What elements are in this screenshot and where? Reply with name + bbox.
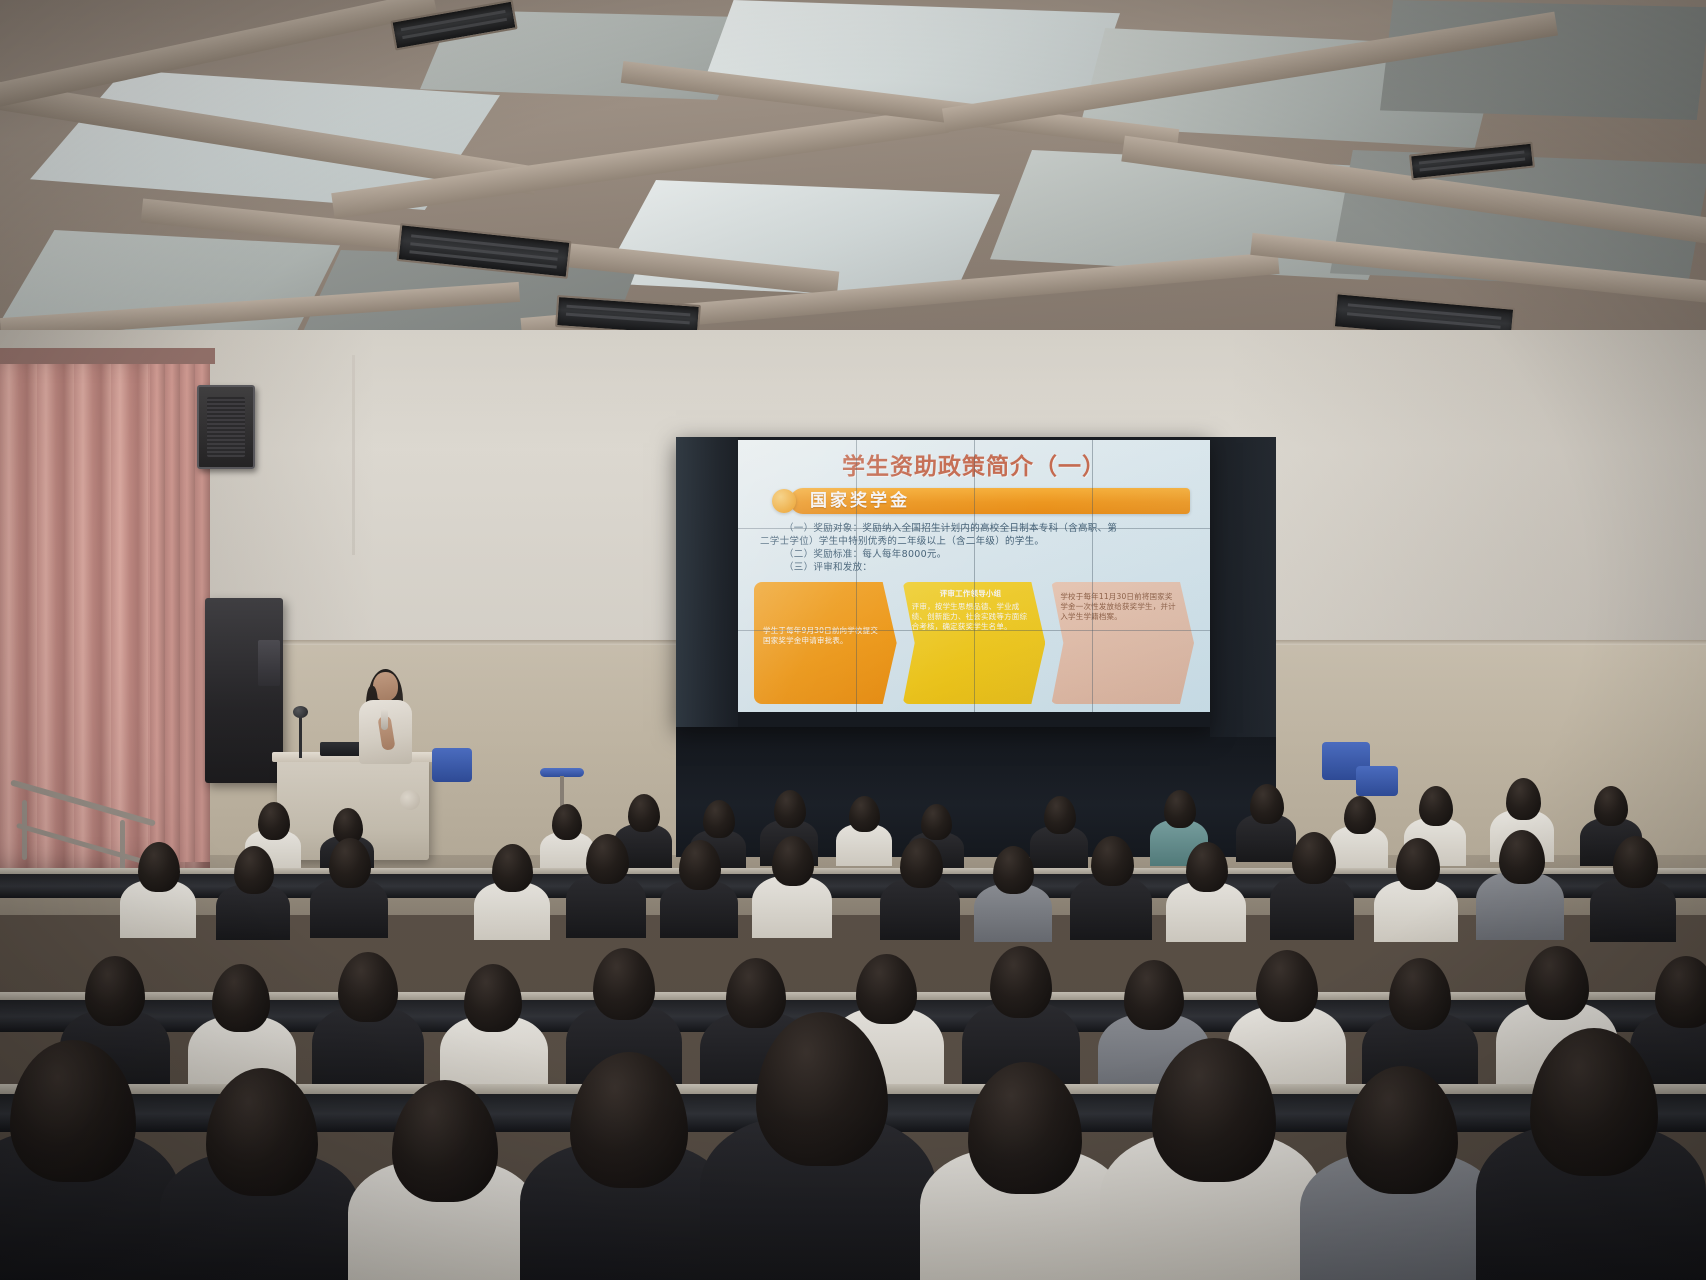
flow-step-2-title: 评审工作领导小组	[912, 589, 1030, 599]
audience-member-head	[138, 842, 180, 892]
audience-member-head	[1594, 786, 1628, 826]
video-wall-seam	[856, 440, 857, 712]
flow-step-2-body: 评审，按学生思想品德、学业成绩、创新能力、社会实践等方面综合考核，确定获奖学生名…	[912, 602, 1030, 632]
audience-member-head	[993, 846, 1034, 894]
audience-member-head	[1389, 958, 1451, 1030]
audience-member-head	[85, 956, 145, 1026]
presenter	[354, 672, 416, 764]
audience-member-head	[1256, 950, 1318, 1022]
gooseneck-microphone-stand	[299, 712, 302, 758]
ceiling	[0, 0, 1706, 350]
presentation-slide: 学生资助政策简介（一） 国家奖学金 （一）奖励对象：奖励纳入全国招生计划内的高校…	[738, 440, 1210, 712]
audience-member-head	[338, 952, 398, 1022]
audience-member-head	[1655, 956, 1706, 1028]
video-wall-seam	[738, 528, 1210, 529]
handheld-microphone	[381, 708, 388, 730]
audience-member-head	[258, 802, 290, 840]
curtain-rail	[0, 348, 215, 364]
audience-member-head	[1506, 778, 1541, 820]
video-wall-seam	[974, 440, 975, 712]
audience-member-head	[1525, 946, 1589, 1020]
flow-step-3: 学校于每年11月30日前将国家奖学金一次性发放给获奖学生，并计入学生学籍档案。	[1051, 582, 1194, 704]
audience-member-head	[849, 796, 880, 832]
flow-step-1: 学生于每年9月30日前向学校提交国家奖学金申请审批表。	[754, 582, 897, 704]
audience-member-head	[1613, 836, 1658, 888]
audience-member-head	[921, 804, 952, 840]
audience-member-head	[1419, 786, 1453, 826]
screen-side-panel	[1210, 437, 1276, 737]
audience-member-head	[1186, 842, 1228, 892]
bullet-dot-icon	[772, 489, 796, 513]
slide-body-line: （二）奖励标准：每人每年8000元。	[760, 548, 1200, 561]
audience-member-head	[726, 958, 786, 1028]
audience	[0, 760, 1706, 1280]
audience-member-head	[1164, 790, 1196, 828]
audience-member-head	[1344, 796, 1376, 834]
video-wall-seam	[1092, 440, 1093, 712]
audience-member-head	[628, 794, 660, 832]
wall-speaker	[197, 385, 255, 469]
audience-member-head	[552, 804, 582, 840]
audience-member-head	[703, 800, 735, 838]
audience-member-head	[464, 964, 522, 1032]
audience-member-head	[990, 946, 1052, 1018]
video-wall-bezel	[676, 437, 738, 727]
audience-member-head	[593, 948, 655, 1020]
audience-member-head	[856, 954, 917, 1024]
lecture-hall-photo: 学生资助政策简介（一） 国家奖学金 （一）奖励对象：奖励纳入全国招生计划内的高校…	[0, 0, 1706, 1280]
audience-member-head	[1044, 796, 1076, 834]
audience-member-head	[492, 844, 533, 892]
gooseneck-microphone-head	[293, 706, 308, 718]
slide-body-line: 二学士学位）学生中特别优秀的二年级以上（含二年级）的学生。	[760, 535, 1200, 548]
video-wall-seam	[738, 630, 1210, 631]
audience-member-head	[1091, 836, 1134, 886]
audience-member-head	[1124, 960, 1184, 1030]
slide-body-line: （三）评审和发放：	[760, 561, 1200, 574]
slide-section-label: 国家奖学金	[810, 490, 910, 512]
audience-member-head	[1250, 784, 1284, 824]
slide-body-text: （一）奖励对象：奖励纳入全国招生计划内的高校全日制本专科（含高职、第 二学士学位…	[760, 522, 1200, 574]
flow-step-1-body: 学生于每年9月30日前向学校提交国家奖学金申请审批表。	[763, 592, 881, 646]
flow-step-3-body: 学校于每年11月30日前将国家奖学金一次性发放给获奖学生，并计入学生学籍档案。	[1060, 592, 1178, 622]
hanging-cable	[352, 355, 355, 555]
equipment-cabinet-panel	[258, 640, 280, 686]
audience-member-head	[774, 790, 806, 828]
audience-member-head	[212, 964, 270, 1032]
